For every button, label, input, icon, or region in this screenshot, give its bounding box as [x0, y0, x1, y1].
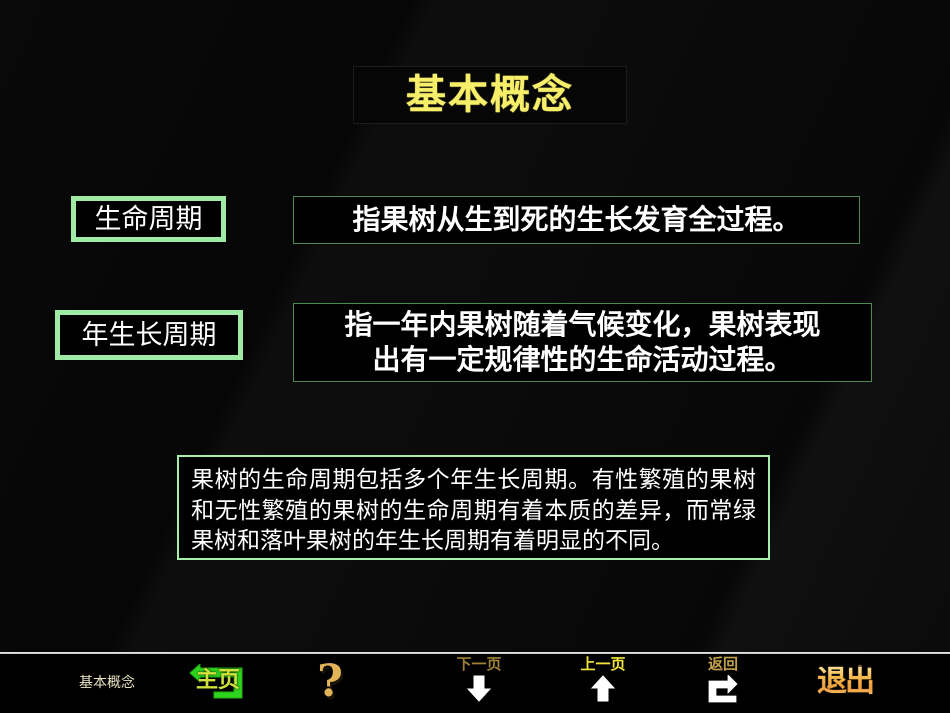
nav-prev-label: 上一页 [580, 657, 625, 672]
nav-help-button[interactable]: ? [300, 654, 360, 710]
nav-back-button[interactable]: 返回 [678, 654, 768, 710]
nav-home-label: 主页 [186, 669, 250, 691]
slide-title-box: 基本概念 [353, 66, 627, 124]
nav-back-label: 返回 [708, 657, 738, 672]
nav-page-name: 基本概念 [52, 654, 162, 710]
note-text: 果树的生命周期包括多个年生长周期。有性繁殖的果树和无性繁殖的果树的生命周期有着本… [191, 465, 756, 557]
note-box: 果树的生命周期包括多个年生长周期。有性繁殖的果树和无性繁殖的果树的生命周期有着本… [177, 455, 770, 560]
bottom-nav-bar: 基本概念 主页 ? 下一页 [0, 654, 950, 713]
nav-page-name-label: 基本概念 [79, 672, 135, 692]
term-label: 生命周期 [95, 206, 203, 233]
nav-next-button[interactable]: 下一页 [434, 654, 524, 710]
definition-box-life-cycle: 指果树从生到死的生长发育全过程。 [293, 196, 860, 244]
definition-text: 指一年内果树随着气候变化，果树表现 出有一定规律性的生命活动过程。 [344, 308, 820, 376]
exit-wordart-icon: 退出 [817, 667, 873, 697]
nav-next-label: 下一页 [456, 657, 501, 672]
nav-home-button[interactable]: 主页 [178, 654, 258, 710]
term-box-annual-growth-cycle: 年生长周期 [55, 310, 243, 360]
nav-prev-button[interactable]: 上一页 [558, 654, 648, 710]
term-box-life-cycle: 生命周期 [71, 196, 226, 242]
definition-text: 指果树从生到死的生长发育全过程。 [352, 203, 800, 237]
arrow-down-icon [464, 675, 494, 707]
term-label: 年生长周期 [82, 322, 217, 349]
question-mark-icon: ? [317, 660, 343, 704]
definition-box-annual-growth-cycle: 指一年内果树随着气候变化，果树表现 出有一定规律性的生命活动过程。 [293, 303, 872, 382]
slide-canvas: 基本概念 生命周期 指果树从生到死的生长发育全过程。 年生长周期 指一年内果树随… [0, 0, 950, 713]
page-title: 基本概念 [406, 75, 574, 115]
nav-exit-button[interactable]: 退出 [795, 654, 895, 710]
arrow-up-icon [588, 675, 618, 707]
return-arrow-icon [706, 675, 740, 707]
